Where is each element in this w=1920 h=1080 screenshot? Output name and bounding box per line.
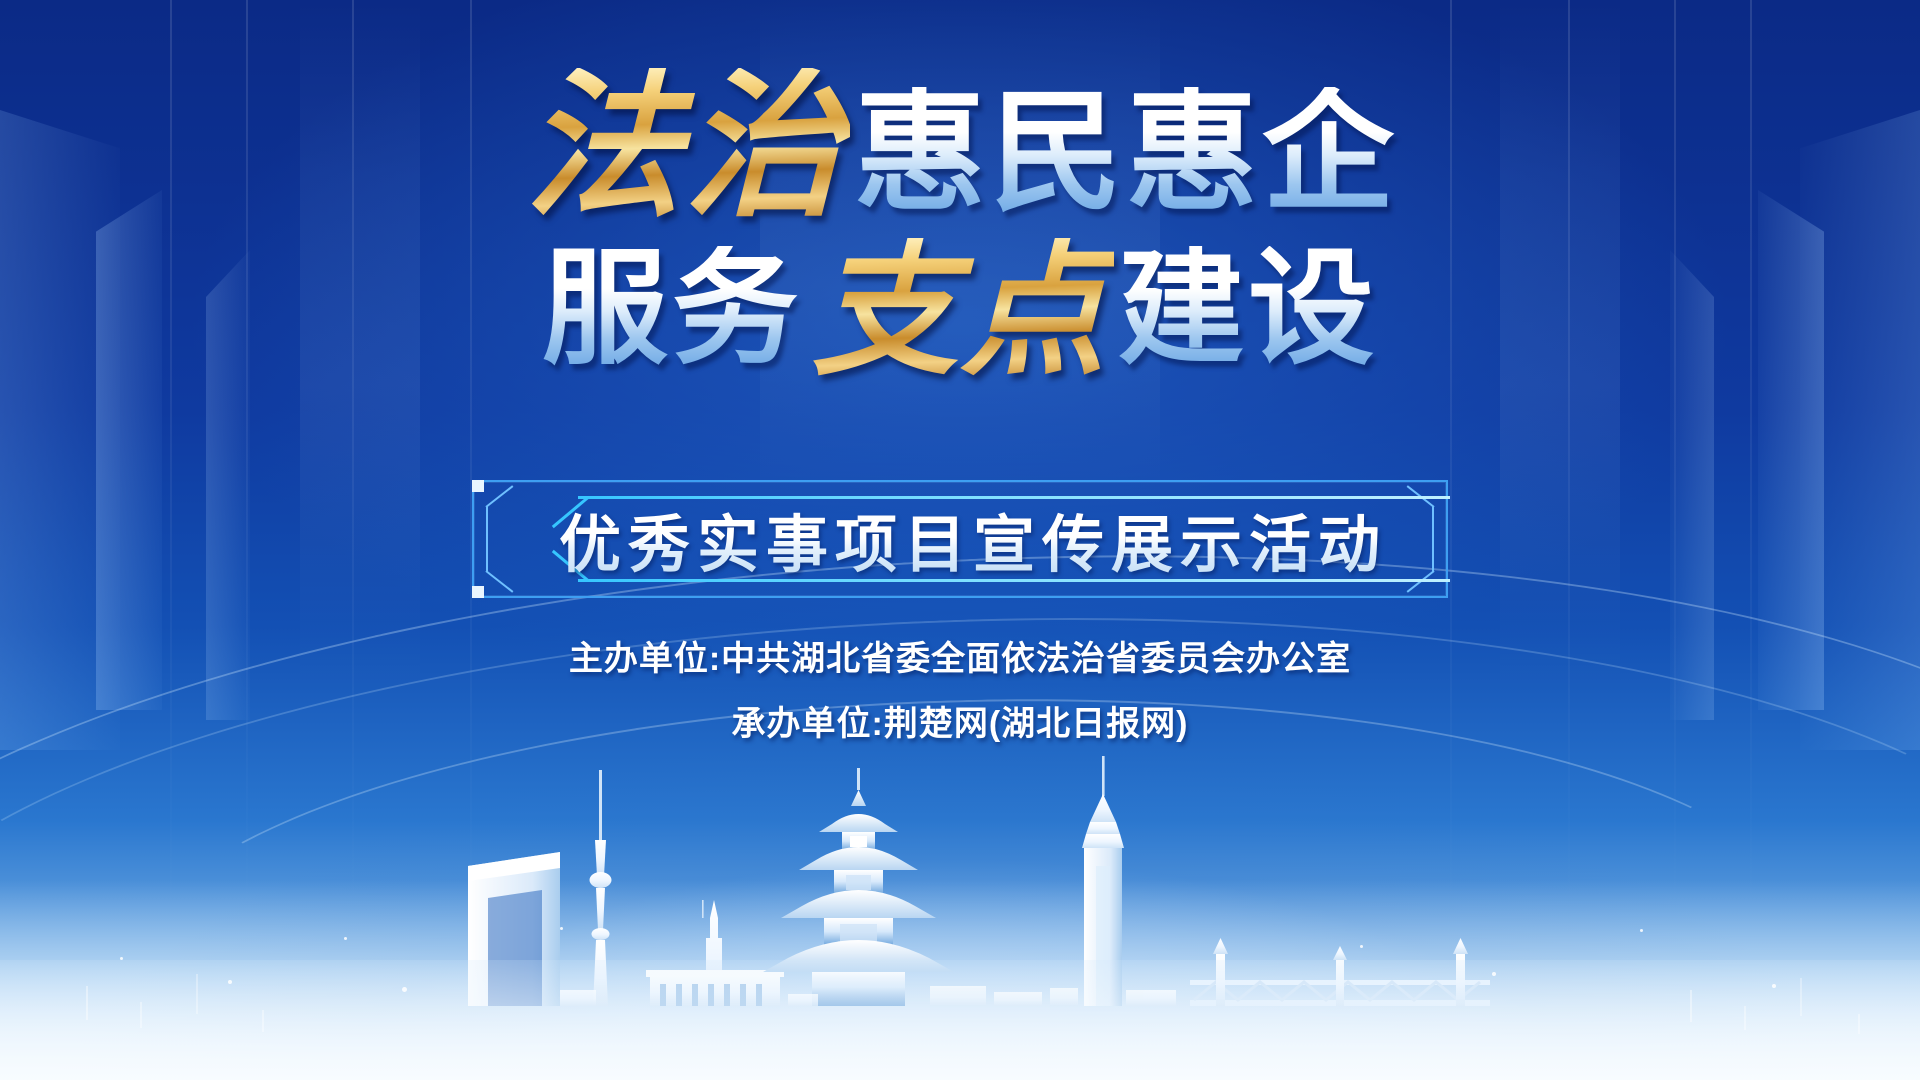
title-cool-fuwu: 服务: [538, 246, 806, 372]
tv-tower: [590, 770, 612, 1006]
skyline-landmarks: [410, 748, 1510, 1008]
poster-canvas: 法治惠民惠企 服务支点建设 优秀实事项目宣传展示活动 主办单位:中共湖北省委全面…: [0, 0, 1920, 1080]
subtitle-text: 优秀实事项目宣传展示活动: [472, 494, 1448, 584]
title-gold-zhidian: 支点: [806, 238, 1114, 384]
organizer-block: 主办单位:中共湖北省委全面依法治省委员会办公室 承办单位:荆楚网(湖北日报网): [0, 638, 1920, 767]
low-rise-buildings: [560, 986, 1176, 1006]
title-line-1: 法治惠民惠企: [0, 74, 1920, 232]
subtitle-banner: 优秀实事项目宣传展示活动: [472, 480, 1448, 598]
city-skyline: [0, 750, 1920, 1080]
memorial-spire-tower: [1082, 756, 1124, 1006]
title-gold-fazhi: 法治: [518, 68, 850, 226]
organizer-line-host: 主办单位:中共湖北省委全面依法治省委员会办公室: [0, 638, 1920, 681]
skyline-haze: [0, 880, 1920, 1080]
organizer-line-operator: 承办单位:荆楚网(湖北日报网): [0, 703, 1920, 746]
gateway-arch-building: [468, 852, 560, 1006]
title-cool-jianshe: 建设: [1114, 246, 1382, 372]
title-line-2: 服务支点建设: [0, 236, 1920, 382]
yellow-crane-tower-pagoda: [763, 768, 954, 1006]
skyline-ground-glow: [0, 960, 1920, 1080]
title-cool-huiminhuiqi: 惠民惠企: [850, 87, 1402, 219]
clock-tower-hall: [646, 900, 784, 1006]
yangtze-river-bridge: [1190, 938, 1490, 1006]
poster-title: 法治惠民惠企 服务支点建设: [0, 74, 1920, 382]
